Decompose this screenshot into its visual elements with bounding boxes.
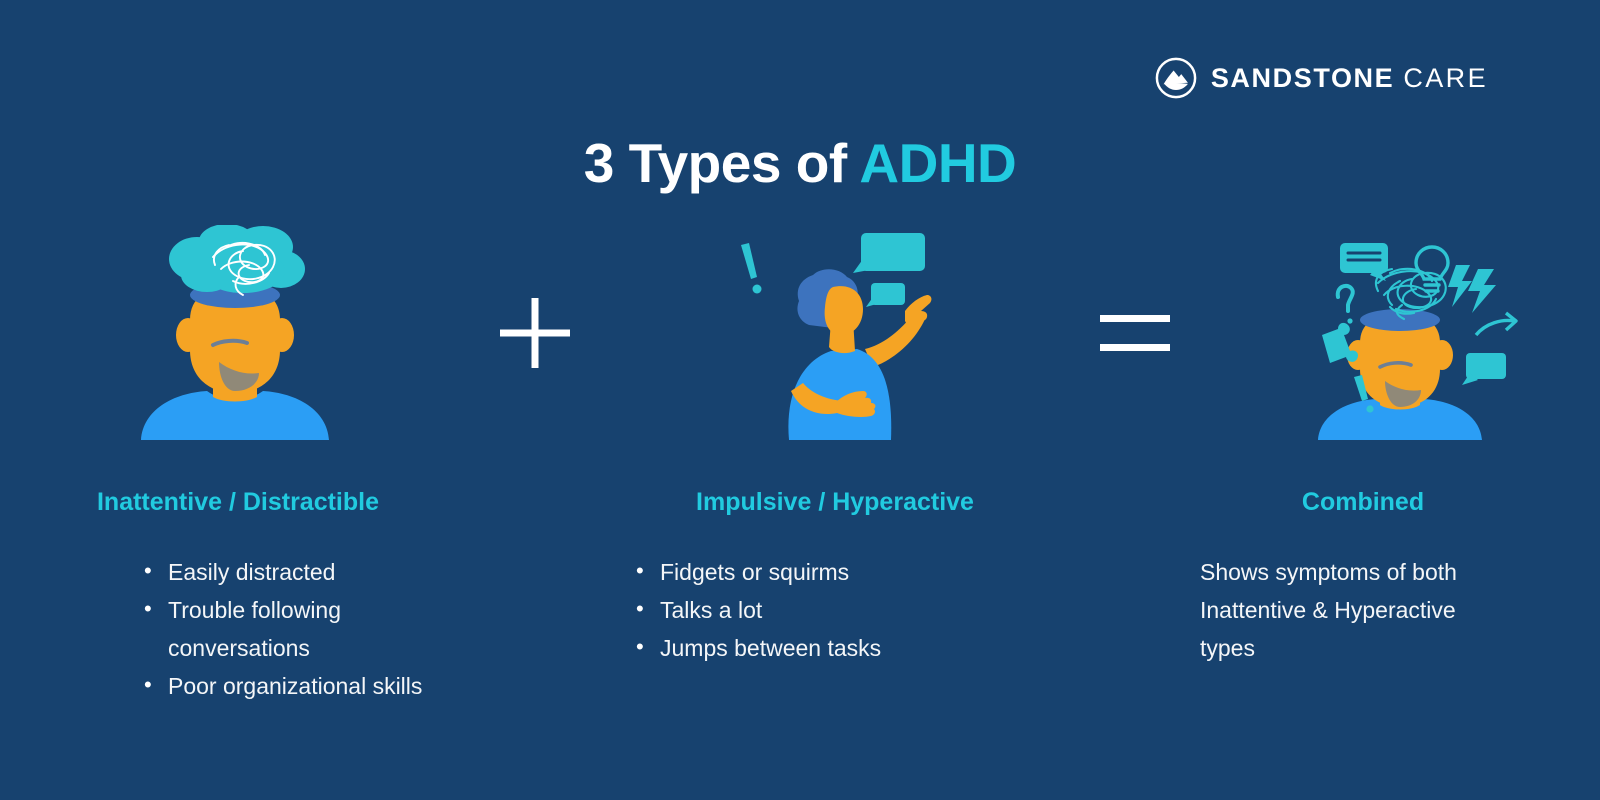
person-open-head-many-thought-icons-icon xyxy=(1280,225,1520,440)
bullet-list-inattentive: Easily distracted Trouble following conv… xyxy=(0,553,470,705)
list-item: Poor organizational skills xyxy=(140,667,470,705)
list-item: Jumps between tasks xyxy=(632,629,1070,667)
column-combined: Combined Shows symptoms of both Inattent… xyxy=(1200,225,1600,725)
brand-name-bold: SANDSTONE xyxy=(1211,63,1394,93)
operator-equals-wrap xyxy=(1070,225,1200,725)
illustration-inattentive xyxy=(0,225,470,440)
brand-logo: SANDSTONE CARE xyxy=(1155,57,1488,99)
list-item: Trouble following conversations xyxy=(140,591,470,667)
heading-inattentive: Inattentive / Distractible xyxy=(0,488,470,517)
brand-name: SANDSTONE CARE xyxy=(1211,63,1488,94)
brand-name-light: CARE xyxy=(1403,63,1488,93)
bullet-list-impulsive: Fidgets or squirms Talks a lot Jumps bet… xyxy=(600,553,1070,667)
page-title: 3 Types of ADHD xyxy=(0,131,1600,195)
person-open-head-thought-cloud-scribble-icon xyxy=(135,225,335,440)
illustration-combined xyxy=(1200,225,1600,440)
column-inattentive: Inattentive / Distractible Easily distra… xyxy=(0,225,470,725)
person-talking-gesturing-speech-bubbles-icon xyxy=(735,225,935,440)
plus-sign-icon xyxy=(498,296,572,370)
mountain-in-circle-icon xyxy=(1155,57,1197,99)
column-impulsive: Impulsive / Hyperactive Fidgets or squir… xyxy=(600,225,1070,725)
list-item: Fidgets or squirms xyxy=(632,553,1070,591)
illustration-impulsive xyxy=(600,225,1070,440)
list-item: Easily distracted xyxy=(140,553,470,591)
operator-plus-wrap xyxy=(470,225,600,725)
page-title-accent: ADHD xyxy=(859,132,1016,194)
page-title-lead: 3 Types of xyxy=(584,132,860,194)
type-columns: Inattentive / Distractible Easily distra… xyxy=(0,225,1600,725)
paragraph-combined: Shows symptoms of both Inattentive & Hyp… xyxy=(1200,553,1480,667)
infographic-canvas: SANDSTONE CARE 3 Types of ADHD xyxy=(0,0,1600,800)
operator-equals xyxy=(1070,225,1200,440)
operator-plus xyxy=(470,225,600,440)
list-item: Talks a lot xyxy=(632,591,1070,629)
equals-sign-icon xyxy=(1098,311,1172,355)
heading-impulsive: Impulsive / Hyperactive xyxy=(600,488,1070,517)
heading-combined: Combined xyxy=(1200,488,1600,517)
